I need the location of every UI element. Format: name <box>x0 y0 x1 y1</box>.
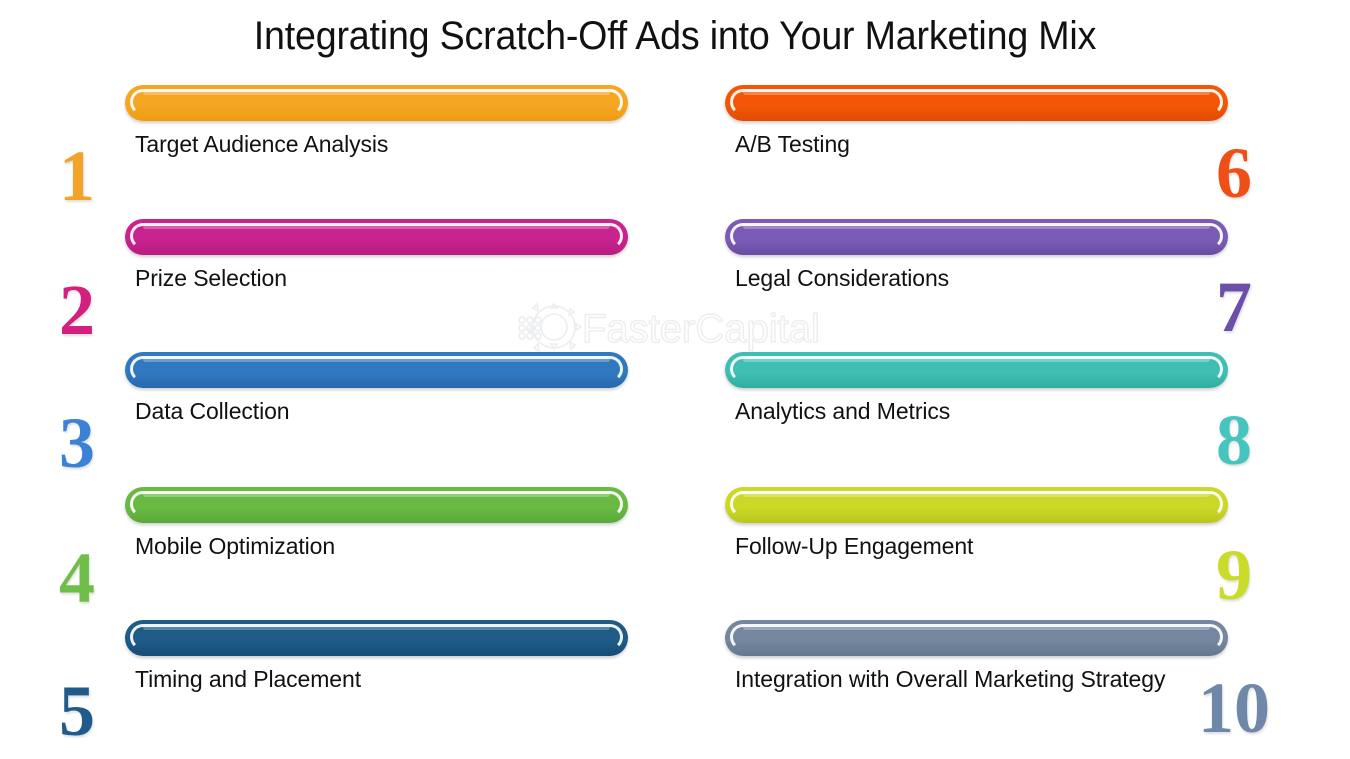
step-bar-fill <box>125 219 628 255</box>
step-label: Follow-Up Engagement <box>735 531 1205 562</box>
list-item[interactable]: Timing and Placement5 <box>40 620 660 754</box>
step-bar-sheen <box>143 625 610 630</box>
step-label: Legal Considerations <box>735 263 1205 294</box>
list-item[interactable]: Prize Selection2 <box>40 219 660 353</box>
step-number: 8 <box>1186 404 1282 476</box>
step-bar-fill <box>725 487 1228 523</box>
step-bar-sheen <box>743 492 1210 497</box>
step-bar-sheen <box>143 90 610 95</box>
step-label: Prize Selection <box>135 263 605 294</box>
step-bar-5 <box>125 620 628 656</box>
step-bar-highlight <box>730 89 1223 115</box>
list-item[interactable]: Target Audience Analysis1 <box>40 85 660 219</box>
step-bar-7 <box>725 219 1228 255</box>
step-bar-sheen <box>143 357 610 362</box>
step-label: Mobile Optimization <box>135 531 605 562</box>
step-number: 6 <box>1186 137 1282 209</box>
step-bar-fill <box>725 219 1228 255</box>
step-bar-highlight <box>130 223 623 249</box>
step-label: Analytics and Metrics <box>735 396 1205 427</box>
step-number: 5 <box>40 675 114 747</box>
step-bar-highlight <box>130 624 623 650</box>
step-bar-highlight <box>730 223 1223 249</box>
step-bar-10 <box>725 620 1228 656</box>
step-number: 3 <box>40 407 114 479</box>
list-item[interactable]: Mobile Optimization4 <box>40 487 660 621</box>
step-bar-highlight <box>130 356 623 382</box>
step-number: 10 <box>1186 672 1282 744</box>
step-bar-fill <box>125 487 628 523</box>
list-item[interactable]: A/B Testing6 <box>640 85 1260 219</box>
step-bar-fill <box>125 85 628 121</box>
step-bar-sheen <box>743 625 1210 630</box>
step-label: Timing and Placement <box>135 664 605 695</box>
list-item[interactable]: Integration with Overall Marketing Strat… <box>640 620 1260 754</box>
list-item[interactable]: Data Collection3 <box>40 352 660 486</box>
list-item[interactable]: Follow-Up Engagement9 <box>640 487 1260 621</box>
step-number: 4 <box>40 542 114 614</box>
step-bar-4 <box>125 487 628 523</box>
step-number: 9 <box>1186 539 1282 611</box>
step-label: Target Audience Analysis <box>135 129 605 160</box>
step-bar-9 <box>725 487 1228 523</box>
step-bar-sheen <box>743 357 1210 362</box>
step-bar-6 <box>725 85 1228 121</box>
step-bar-highlight <box>730 491 1223 517</box>
list-item[interactable]: Analytics and Metrics8 <box>640 352 1260 486</box>
step-bar-highlight <box>130 89 623 115</box>
step-bar-highlight <box>130 491 623 517</box>
step-bar-fill <box>725 85 1228 121</box>
step-number: 1 <box>40 140 114 212</box>
step-bar-highlight <box>730 356 1223 382</box>
step-label: Data Collection <box>135 396 605 427</box>
step-label: Integration with Overall Marketing Strat… <box>735 664 1205 695</box>
step-bar-fill <box>125 620 628 656</box>
step-bar-sheen <box>143 224 610 229</box>
step-bar-fill <box>125 352 628 388</box>
step-number: 2 <box>40 274 114 346</box>
step-number: 7 <box>1186 271 1282 343</box>
column-right: A/B Testing6Legal Considerations7Analyti… <box>640 0 1260 759</box>
step-bar-8 <box>725 352 1228 388</box>
step-bar-fill <box>725 352 1228 388</box>
step-label: A/B Testing <box>735 129 1205 160</box>
list-item[interactable]: Legal Considerations7 <box>640 219 1260 353</box>
step-bar-sheen <box>743 90 1210 95</box>
step-bar-3 <box>125 352 628 388</box>
infographic-canvas: Integrating Scratch-Off Ads into Your Ma… <box>0 0 1350 759</box>
step-bar-sheen <box>143 492 610 497</box>
step-bar-sheen <box>743 224 1210 229</box>
step-bar-2 <box>125 219 628 255</box>
step-bar-highlight <box>730 624 1223 650</box>
step-bar-fill <box>725 620 1228 656</box>
column-left: Target Audience Analysis1Prize Selection… <box>40 0 660 759</box>
step-bar-1 <box>125 85 628 121</box>
